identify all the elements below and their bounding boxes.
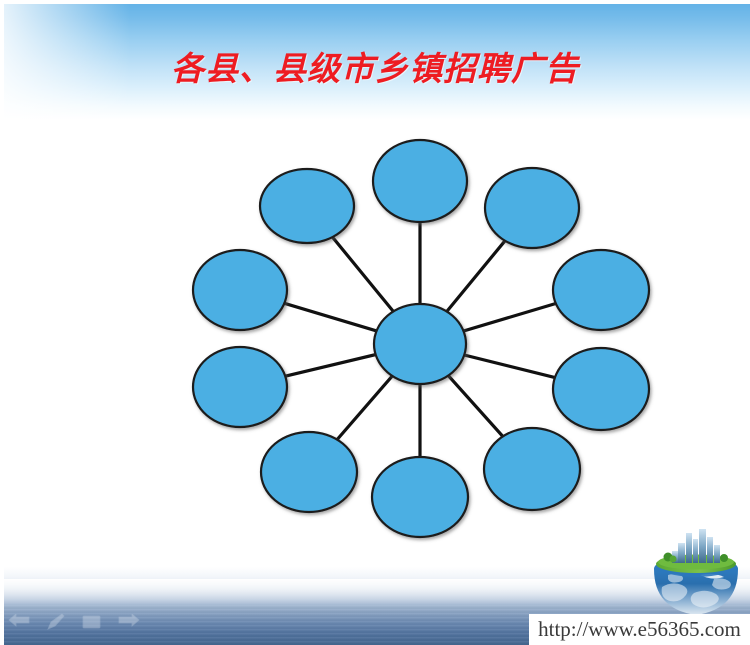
diagram-node-top-left[interactable]: [260, 169, 354, 243]
presentation-slide: 各县、县级市乡镇招聘广告: [0, 0, 750, 645]
slideshow-nav-controls[interactable]: [8, 613, 140, 631]
pen-tool-icon[interactable]: [46, 613, 66, 631]
diagram-node-bottom-right[interactable]: [484, 428, 580, 510]
diagram-node-left-lower[interactable]: [193, 347, 287, 427]
diagram-node-bottom-left[interactable]: [261, 432, 357, 512]
globe-city-logo: [648, 525, 744, 617]
slide-footer-haze: [0, 579, 750, 605]
previous-slide-icon[interactable]: [8, 614, 30, 630]
watermark-url: http://www.e56365.com: [529, 614, 750, 645]
next-slide-icon[interactable]: [118, 614, 140, 630]
city-skyline-icon: [664, 529, 729, 563]
radial-diagram: [0, 0, 750, 645]
slide-left-edge: [0, 0, 4, 645]
diagram-node-right-lower[interactable]: [553, 348, 649, 430]
diagram-node-right-upper[interactable]: [553, 250, 649, 330]
diagram-node-bottom[interactable]: [372, 457, 468, 537]
menu-icon[interactable]: [82, 614, 102, 630]
diagram-node-left-upper[interactable]: [193, 250, 287, 330]
diagram-node-top[interactable]: [373, 140, 467, 222]
diagram-node-top-right[interactable]: [485, 168, 579, 248]
diagram-center-node[interactable]: [374, 304, 466, 384]
